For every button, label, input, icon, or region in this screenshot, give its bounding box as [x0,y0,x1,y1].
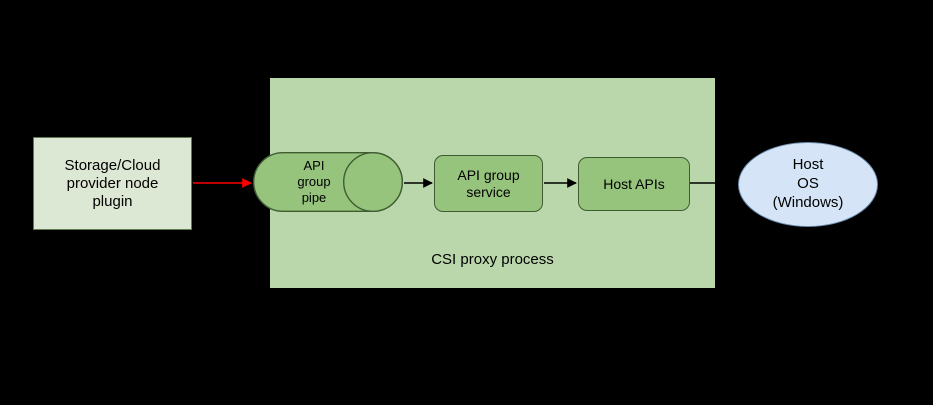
api-group-service-line1: API group [457,167,519,184]
csi-proxy-process-label: CSI proxy process [270,251,715,268]
node-plugin-text: Storage/Cloud provider node plugin [65,157,161,211]
api-group-service-box[interactable]: API group service [434,155,543,212]
host-apis-line1: Host APIs [603,176,664,193]
api-group-service-text: API group service [457,167,519,201]
api-group-pipe-line3: pipe [297,190,330,206]
host-apis-box[interactable]: Host APIs [578,157,690,211]
api-group-service-line2: service [457,184,519,201]
node-plugin-line1: Storage/Cloud [65,157,161,175]
api-group-pipe-lines: API group pipe [297,158,330,207]
host-os-line1: Host [773,156,844,175]
host-os-ellipse[interactable]: Host OS (Windows) [738,142,878,227]
node-plugin-box[interactable]: Storage/Cloud provider node plugin [33,137,192,230]
host-os-line3: (Windows) [773,194,844,213]
node-plugin-line2: provider node [65,175,161,193]
diagram-canvas: CSI proxy process Storag [0,0,933,405]
api-group-pipe-line2: group [297,174,330,190]
host-os-line2: OS [773,175,844,194]
api-group-pipe-text: API group pipe [253,152,375,212]
api-group-pipe-line1: API [297,158,330,174]
node-plugin-line3: plugin [65,193,161,211]
host-apis-text: Host APIs [603,176,664,193]
host-os-text: Host OS (Windows) [773,156,844,212]
